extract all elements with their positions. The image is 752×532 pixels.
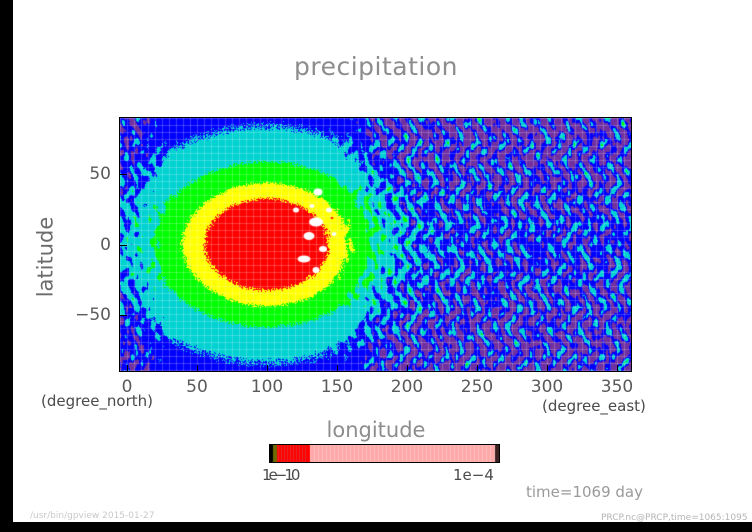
x-tick-mark [337, 365, 338, 372]
x-tick-mark [197, 365, 198, 372]
footer-right: PRCP.nc@PRCP,time=1065:1095 [601, 513, 748, 523]
x-tick-label: 200 [391, 377, 423, 397]
x-tick-label: 150 [321, 377, 353, 397]
y-tick-label: 50 [89, 164, 111, 184]
precipitation-field [120, 118, 631, 371]
y-axis-title: latitude [33, 217, 57, 298]
x-axis-unit-caption: (degree_east) [542, 397, 646, 415]
x-tick-label: 350 [601, 377, 633, 397]
x-axis-title: longitude [13, 418, 739, 442]
plot-canvas: precipitation 500−50 latitude longitude … [13, 0, 752, 522]
y-tick-mark [120, 174, 127, 175]
colorbar-gradient [270, 445, 499, 462]
colorbar-min-label: 1e−10 [262, 466, 297, 484]
colorbar-max-label: 1e−4 [453, 466, 494, 484]
x-tick-mark [547, 365, 548, 372]
x-tick-label: 0 [122, 377, 133, 397]
contour-plot-area [119, 117, 632, 372]
time-annotation: time=1069 day [526, 483, 643, 501]
x-tick-mark [617, 365, 618, 372]
x-tick-label: 300 [531, 377, 563, 397]
y-axis-unit-caption: (degree_north) [41, 392, 153, 410]
window-frame: precipitation 500−50 latitude longitude … [0, 0, 752, 532]
x-tick-label: 250 [461, 377, 493, 397]
x-tick-label: 50 [186, 377, 208, 397]
x-tick-mark [477, 365, 478, 372]
y-tick-label: 0 [100, 235, 111, 255]
y-axis-ticks: 500−50 [53, 0, 111, 532]
x-tick-mark [267, 365, 268, 372]
colorbar [269, 444, 500, 463]
y-tick-mark [120, 315, 127, 316]
x-tick-mark [407, 365, 408, 372]
x-tick-mark [127, 365, 128, 372]
y-tick-label: −50 [75, 305, 111, 325]
footer-left: /usr/bin/gpview 2015-01-27 [30, 511, 154, 521]
x-tick-label: 100 [251, 377, 283, 397]
y-tick-mark [120, 245, 127, 246]
page-title: precipitation [13, 52, 739, 81]
